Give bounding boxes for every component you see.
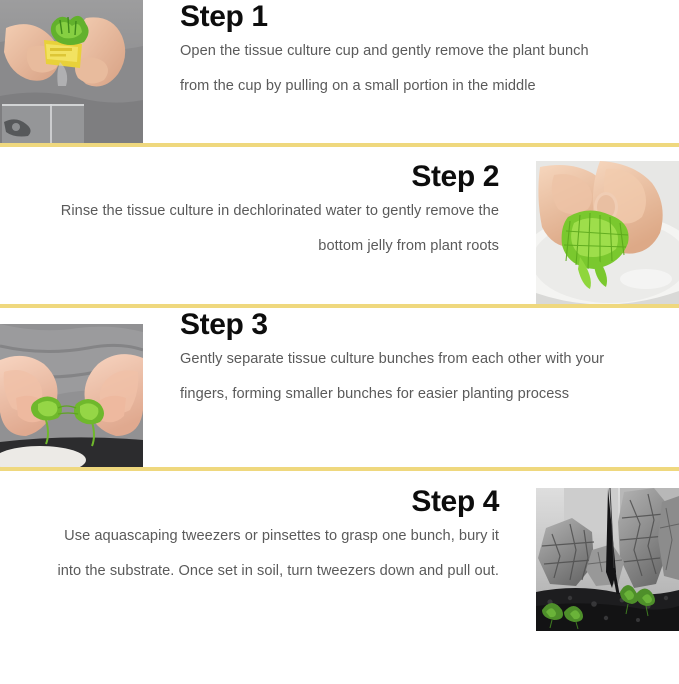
- step-panel-4: Step 4 Use aquascaping tweezers or pinse…: [0, 471, 679, 631]
- step-4-title: Step 4: [39, 485, 499, 519]
- step-panel-3: Step 3 Gently separate tissue culture bu…: [0, 308, 679, 467]
- step-2-body: Rinse the tissue culture in dechlorinate…: [39, 194, 499, 264]
- step-4-photo: [536, 488, 679, 631]
- step-1-body: Open the tissue culture cup and gently r…: [180, 34, 612, 104]
- step-3-body: Gently separate tissue culture bunches f…: [180, 342, 612, 412]
- step-3-title: Step 3: [180, 308, 620, 342]
- step-1-photo: [0, 0, 143, 143]
- step-panel-1: Step 1 Open the tissue culture cup and g…: [0, 0, 679, 143]
- step-2-text-column: Step 2 Rinse the tissue culture in dechl…: [39, 160, 499, 264]
- step-panel-2: Step 2 Rinse the tissue culture in dechl…: [0, 147, 679, 304]
- steps-infographic: Step 1 Open the tissue culture cup and g…: [0, 0, 679, 684]
- step-1-title: Step 1: [180, 0, 620, 34]
- step-3-text-column: Step 3 Gently separate tissue culture bu…: [180, 308, 620, 412]
- step-3-photo: [0, 324, 143, 467]
- step-2-title: Step 2: [39, 160, 499, 194]
- step-4-text-column: Step 4 Use aquascaping tweezers or pinse…: [39, 485, 499, 589]
- step-4-body: Use aquascaping tweezers or pinsettes to…: [39, 519, 499, 589]
- step-1-text-column: Step 1 Open the tissue culture cup and g…: [180, 0, 620, 104]
- step-2-photo: [536, 161, 679, 304]
